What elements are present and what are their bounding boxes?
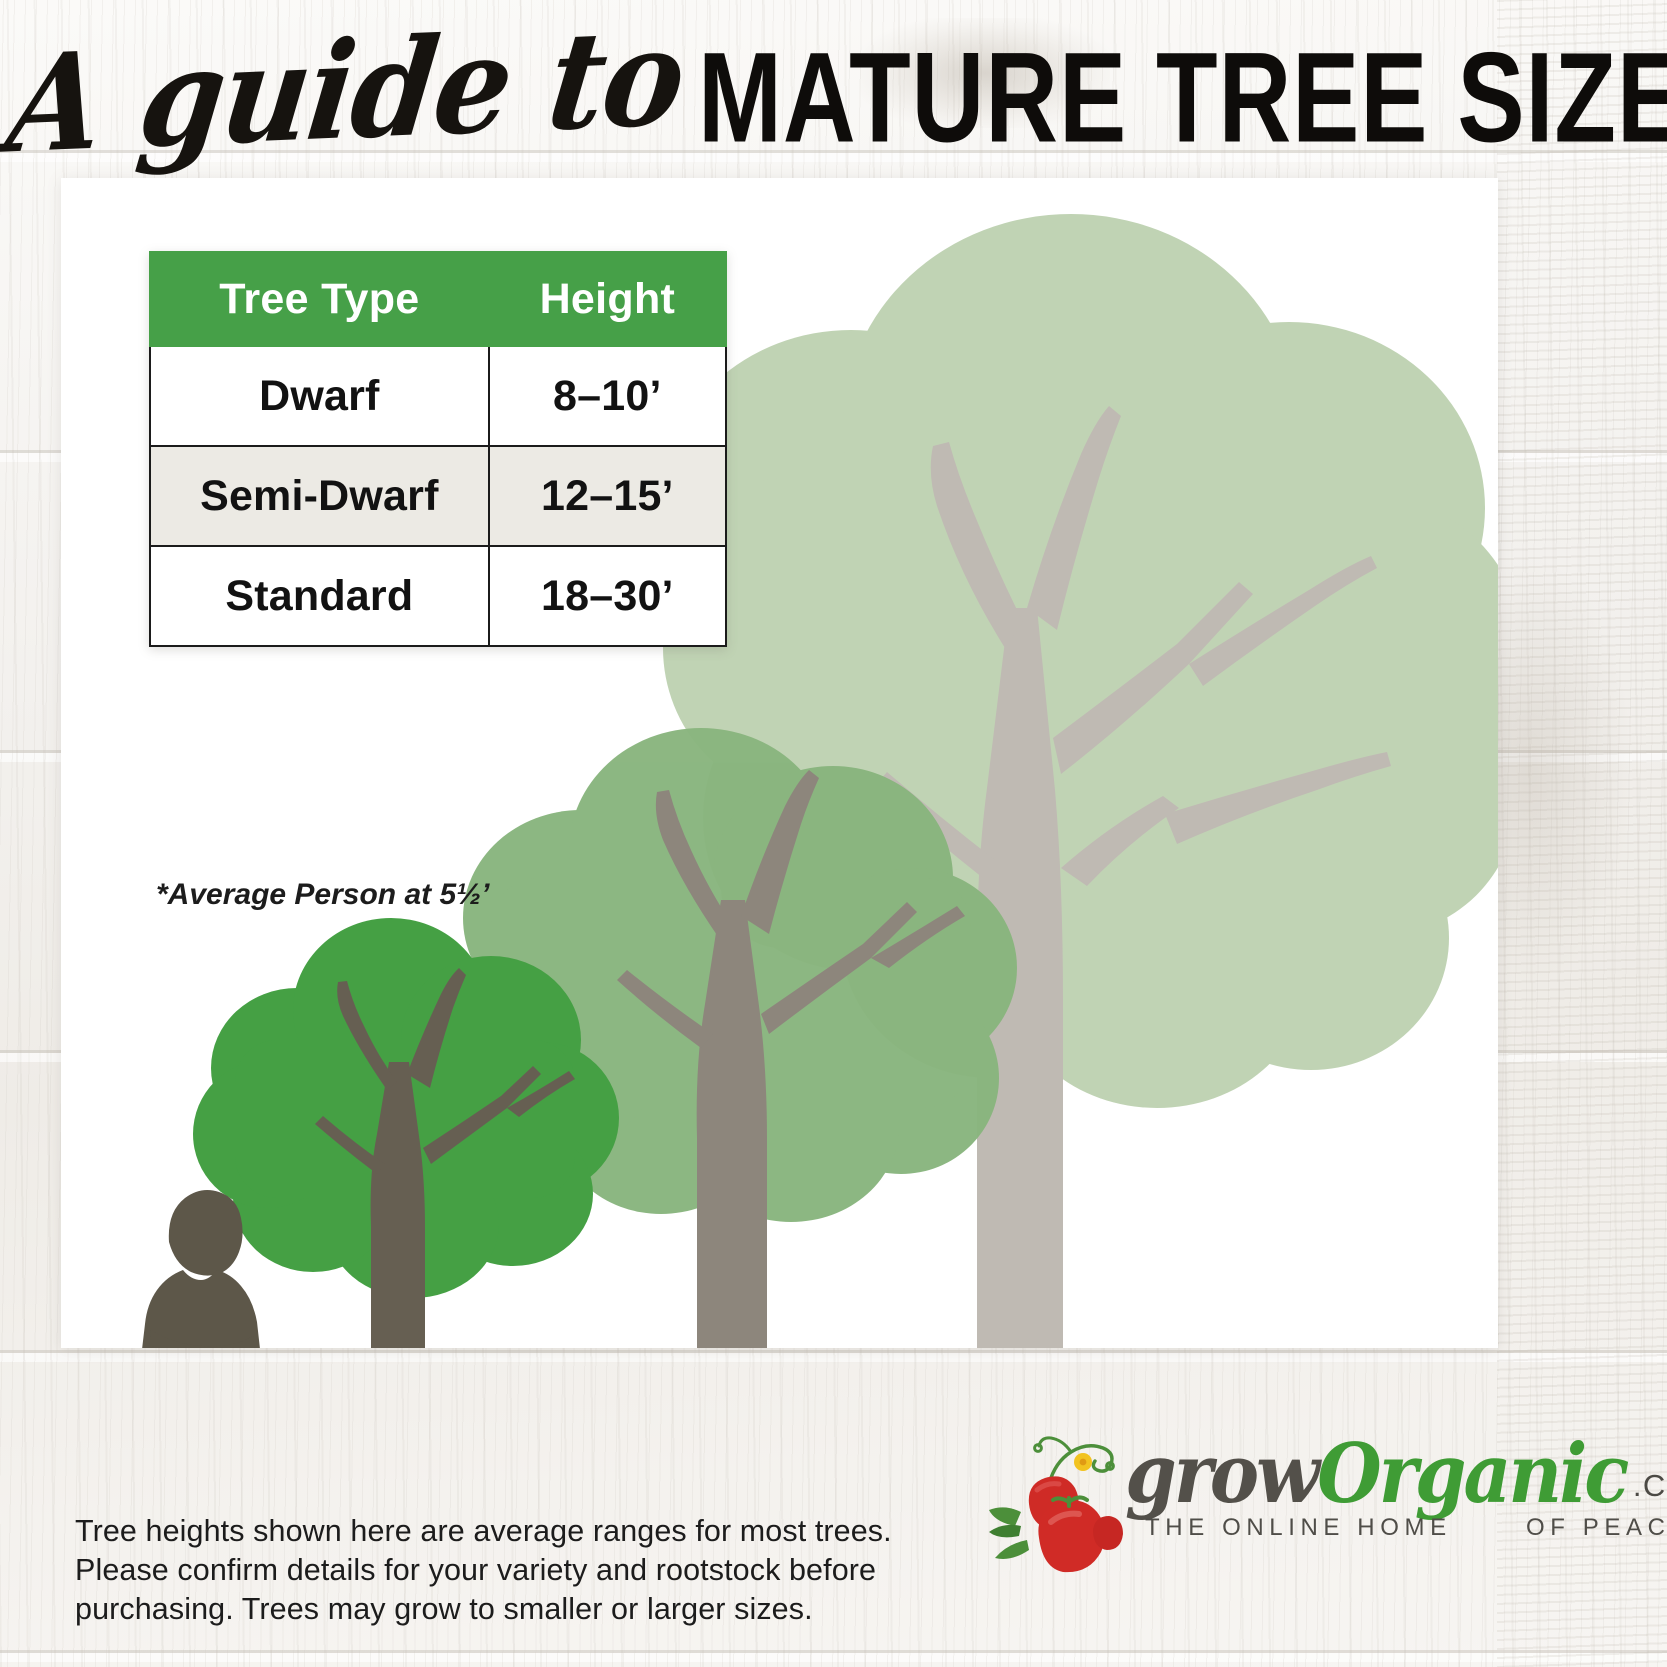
cell-height: 12–15’ xyxy=(489,446,726,546)
disclaimer-text: Tree heights shown here are average rang… xyxy=(75,1512,955,1629)
grow-organic-logo[interactable]: grow Organic .COM THE ONLINE HOME OF PEA… xyxy=(985,1410,1545,1580)
logo-word-grow: grow xyxy=(1125,1427,1317,1522)
table-footnote: *Average Person at 5½’ xyxy=(156,878,490,912)
table-header-row: Tree Type Height xyxy=(150,252,726,346)
cell-height: 18–30’ xyxy=(489,546,726,646)
cell-tree-type: Dwarf xyxy=(150,346,489,446)
logo-word-organic: Organic xyxy=(1317,1427,1626,1522)
table-row: Semi-Dwarf 12–15’ xyxy=(150,446,726,546)
tree-size-table: Tree Type Height Dwarf 8–10’ Semi-Dwarf … xyxy=(149,251,727,647)
logo-tagline-left: THE ONLINE HOME xyxy=(1145,1514,1452,1541)
page-title: A guide to MATURE TREE SIZES xyxy=(0,42,1667,170)
page-title-block: MATURE TREE SIZES xyxy=(698,24,1667,171)
page-title-script: A guide to xyxy=(0,0,691,184)
logo-tagline-right: OF PEACEFUL VALLEY xyxy=(1526,1514,1667,1541)
logo-tld: .COM xyxy=(1633,1468,1667,1504)
cell-height: 8–10’ xyxy=(489,346,726,446)
column-header-height: Height xyxy=(489,252,726,346)
infographic-card: Tree Type Height Dwarf 8–10’ Semi-Dwarf … xyxy=(61,178,1498,1348)
table-row: Dwarf 8–10’ xyxy=(150,346,726,446)
logo-tagline: THE ONLINE HOME OF PEACEFUL VALLEY xyxy=(1145,1514,1667,1542)
cell-tree-type: Semi-Dwarf xyxy=(150,446,489,546)
cell-tree-type: Standard xyxy=(150,546,489,646)
logo-wordmark: grow Organic .COM xyxy=(1125,1436,1667,1522)
column-header-tree-type: Tree Type xyxy=(150,252,489,346)
dwarf-tree xyxy=(193,918,619,1348)
table-row: Standard 18–30’ xyxy=(150,546,726,646)
